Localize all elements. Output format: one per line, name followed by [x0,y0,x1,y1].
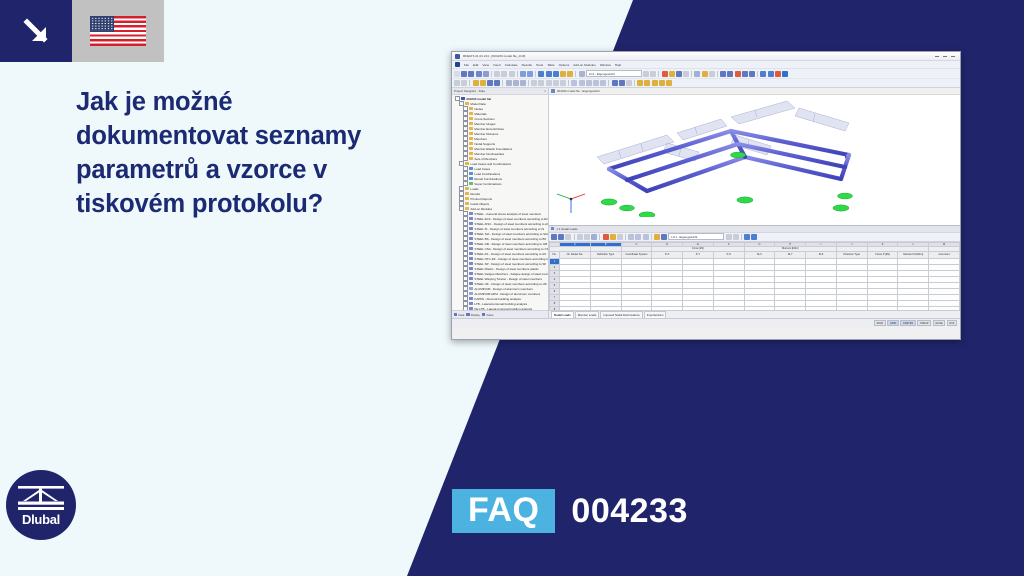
toolbar-pan-icon[interactable] [546,71,552,77]
toolbar2-view-top-icon[interactable] [538,80,544,86]
toolbar-separator [625,234,626,240]
toolbar2-visibility-icon[interactable] [579,80,585,86]
toolbar-separator [691,71,692,77]
menu-item-addon-modules[interactable]: Add-on Modules [573,63,596,67]
page-title: Jak je možné dokumentovat seznamy parame… [76,86,406,222]
tree-item-label: Materials [474,112,486,116]
tree-item-label: Loads [470,187,478,191]
maximize-icon[interactable] [943,56,947,57]
toolbar-loads-icon[interactable] [662,71,668,77]
toolbar-next-case-icon[interactable] [650,71,656,77]
toolbar2-settings-icon[interactable] [626,80,632,86]
menu-item-results[interactable]: Results [522,63,532,67]
toolbar-member-icon[interactable] [742,71,748,77]
table-find-icon[interactable] [591,234,597,240]
column-header[interactable]: M-X [744,251,775,259]
menu-item-file[interactable]: File [464,63,469,67]
status-chip[interactable]: GRID [887,320,898,326]
module-icon [469,242,473,246]
dlubal-logo: Dlubal [6,470,76,540]
hinge-icon [469,122,473,126]
toolbar2-view-fit-icon[interactable] [560,80,566,86]
toolbar-zoom-icon[interactable] [538,71,544,77]
menu-bar[interactable]: File Edit View Insert Calculate Results … [452,61,960,69]
tree-item-label: STEEL Warping Torsion - Design of steel … [474,277,542,281]
tree-item-label: Member Eccentricities [474,127,504,131]
table-panel: 1.1 Nodal Loads [549,225,960,318]
toolbar2-node-icon[interactable] [473,80,479,86]
window-body: Project Navigator - Data × -004233 model… [452,88,960,318]
tree-item-label: STEEL - General stress analysis of steel… [474,212,541,216]
menu-item-tools[interactable]: Tools [536,63,543,67]
toolbar-separator [574,234,575,240]
menu-item-options[interactable]: Options [559,63,570,67]
menu-item-view[interactable]: View [482,63,489,67]
node-icon [469,107,473,111]
toolbar2-deform-icon[interactable] [637,80,643,86]
navigator-tab-views[interactable]: Views [482,313,494,317]
tree-item-label: STEEL AS - Design of steel members accor… [474,252,546,256]
logo-wordmark: Dlubal [6,512,76,527]
module-icon [469,267,473,271]
tree-item-label: Load Combinations [474,172,500,176]
structural-model-3d [549,95,960,217]
tree-item-label: STEEL CSA - Design of steel members acco… [474,247,548,251]
toolbar2-isolate-icon[interactable] [600,80,606,86]
module-icon [469,217,473,221]
app-icon [455,54,460,59]
project-navigator: Project Navigator - Data × -004233 model… [452,88,549,318]
module-icon [469,272,473,276]
rfem-application-window: RFEM 5.21.01 x64 - [004233 model file_1C… [451,51,961,340]
table-new-row-icon[interactable] [551,234,557,240]
module-icon [469,227,473,231]
navigator-tab-display[interactable]: Display [466,313,480,317]
navigator-close-icon[interactable]: × [544,89,546,93]
toolbar2-line-icon[interactable] [480,80,486,86]
folder-icon [465,102,469,106]
table-sort-icon[interactable] [610,234,616,240]
toolbar-section-icon[interactable] [720,71,726,77]
folder-icon [465,207,469,211]
tree-item-label: Load Cases and Combinations [470,162,511,166]
toolbar-preview-icon[interactable] [483,71,489,77]
table-export-icon[interactable] [628,234,634,240]
status-chip[interactable]: GLINE [933,320,946,326]
module-icon [469,247,473,251]
set-icon [469,157,473,161]
resultcomb-icon [469,177,473,181]
table-info-icon[interactable] [751,234,757,240]
tree-item-label: Nodes [474,107,483,111]
table-tab[interactable]: Member Loads [575,311,600,317]
axis-indicator [557,194,585,213]
folder-icon [465,197,469,201]
window-title: RFEM 5.21.01 x64 - [004233 model file_1C… [463,54,525,58]
toolbar-undo-icon[interactable] [520,71,526,77]
minimize-icon[interactable] [935,56,939,57]
table-import-icon[interactable] [635,234,641,240]
column-header[interactable]: Coordinate System [621,251,652,259]
toolbar2-dimension-icon[interactable] [612,80,618,86]
table-filter-icon[interactable] [603,234,609,240]
views-tab-icon [482,313,485,316]
toolbar-separator [741,234,742,240]
tree-item-label: Member Elastic Foundations [474,147,512,151]
tree-item-label: Nodal Supports [474,142,495,146]
nodal-loads-table: ABCDEFGHIJKLM Force [kN]Moment [kNm] No.… [549,242,960,311]
navigator-tab-data-label: Data [458,313,464,317]
module-icon [469,222,473,226]
tree-item-label: STEEL Fatigue Members - Fatigue design o… [474,272,548,276]
module-icon [469,257,473,261]
toolbar-calculate-icon[interactable] [579,71,585,77]
toolbar-separator [599,234,600,240]
toolbar-wireframe-icon[interactable] [567,71,573,77]
module-icon [469,252,473,256]
toolbar-separator [757,71,758,77]
tree-item-label: ALUMINUM - Design of aluminum members [474,287,533,291]
toolbar-paste-icon[interactable] [509,71,515,77]
faq-block: FAQ 004233 [452,489,688,533]
toolbar2-member2-icon[interactable] [487,80,493,86]
tree-item-label: Model Data [470,102,485,106]
toolbar2-layer-icon[interactable] [571,80,577,86]
table-prev-icon[interactable] [726,234,732,240]
menu-item-insert[interactable]: Insert [493,63,501,67]
table-tab[interactable]: Nodal Loads [551,311,574,317]
division-icon [469,132,473,136]
tree-item-label: Add-on Modules [470,207,492,211]
module-icon [469,232,473,236]
module-icon [469,237,473,241]
toolbar2-load2-icon[interactable] [520,80,526,86]
table-copy-icon[interactable] [565,234,571,240]
nonlinearity-icon [469,152,473,156]
display-tab-icon [466,313,469,316]
top-badges [0,0,164,62]
toolbar-open-icon[interactable] [461,71,467,77]
toolbar-supports-icon[interactable] [669,71,675,77]
tree-item-label: STEEL SP - Design of steel members accor… [474,262,546,266]
column-header[interactable]: On Nodes No. [560,251,591,259]
module-icon [469,212,473,216]
folder-icon [465,202,469,206]
secondary-toolbar[interactable] [452,79,960,88]
toolbar-prev-case-icon[interactable] [643,71,649,77]
toolbar-copy-icon[interactable] [501,71,507,77]
tree-item-label: LTB - Lateral-torsional buckling analysi… [474,302,527,306]
toolbar-info-icon[interactable] [782,71,788,77]
table-tab[interactable]: Imperfections [644,311,667,317]
section-icon [469,117,473,121]
menu-item-window[interactable]: Window [600,63,611,67]
toolbar-separator [717,71,718,77]
menu-item-calculate[interactable]: Calculate [505,63,518,67]
toolbar-cut-icon[interactable] [494,71,500,77]
document-tab[interactable]: 004233 model file - Eigengewicht [549,88,960,95]
toolbar-separator [517,71,518,77]
tree-item-label: Member Nonlinearities [474,152,504,156]
tree-item-label: Load Cases [474,167,490,171]
tree-item-label: Result Combinations [474,177,502,181]
toolbar2-view-iso-icon[interactable] [553,80,559,86]
close-icon[interactable] [951,56,955,57]
toolbar-save-icon[interactable] [468,71,474,77]
table-help-icon[interactable] [744,234,750,240]
navigator-tabs[interactable]: Data Display Views [452,310,548,318]
model-viewport[interactable] [549,95,960,225]
menu-item-edit[interactable]: Edit [473,63,478,67]
navigator-tree[interactable]: -004233 model file-Model Data-Nodes-Mate… [452,95,548,310]
module-icon [469,292,473,296]
toolbar-rotate-icon[interactable] [553,71,559,77]
table-tab[interactable]: Imposed Nodal Deformations [600,311,642,317]
folder-icon [465,187,469,191]
toolbar-table-icon[interactable] [683,71,689,77]
tree-item-label: STEEL EC3 - Design of steel members acco… [474,217,548,221]
column-header[interactable]: Force P [kN] [867,251,898,259]
toolbar2-view-side-icon[interactable] [546,80,552,86]
module-icon [469,302,473,306]
tree-item-label: Results [470,192,480,196]
toolbar-separator [575,71,576,77]
tree-item-label: Member Divisions [474,132,498,136]
tree-item-label: ALUMINUM ADM - Design of aluminum member… [474,292,540,296]
faq-tag: FAQ [452,489,555,533]
tree-item-label: Member Hinges [474,122,495,126]
combination-icon [469,172,473,176]
table-next-icon[interactable] [733,234,739,240]
tree-item-label: STEEL IS - Design of steel members accor… [474,227,544,231]
tree-item-label: STEEL GB - Design of steel members accor… [474,242,547,246]
toolbar-separator [568,80,569,86]
toolbar2-moment-icon[interactable] [644,80,650,86]
toolbar-redo-icon[interactable] [527,71,533,77]
member-icon [469,137,473,141]
navigator-tab-display-label: Display [471,313,480,317]
column-header[interactable]: M-Y [775,251,806,259]
toolbar2-view-front-icon[interactable] [531,80,537,86]
tree-item-label: Super Combinations [474,182,501,186]
menu-item-help[interactable]: Help [615,63,621,67]
flag-canton [90,16,114,32]
toolbar-separator [528,80,529,86]
module-icon [469,287,473,291]
module-icon [469,277,473,281]
toolbar-print-icon[interactable] [476,71,482,77]
toolbar-render-icon[interactable] [560,71,566,77]
tree-item-label: Cross-Sections [474,117,494,121]
toolbar2-select-icon[interactable] [454,80,460,86]
toolbar2-lasso-icon[interactable] [461,80,467,86]
table-paste-icon[interactable] [584,234,590,240]
toolbar-measure-icon[interactable] [709,71,715,77]
toolbar-snap-icon[interactable] [702,71,708,77]
main-toolbar[interactable]: LC1 - Eigengewicht [452,69,960,79]
data-tab-icon [454,313,457,316]
toolbar2-axial-icon[interactable] [659,80,665,86]
table-print-icon[interactable] [643,234,649,240]
toolbar-results-icon[interactable] [676,71,682,77]
menu-app-badge [455,62,460,67]
navigator-tab-data[interactable]: Data [454,313,464,317]
foundation-icon [469,147,473,151]
folder-icon [465,162,469,166]
document-icon [551,89,555,93]
column-names-row: No.On Nodes No.Definition TypeCoordinate… [550,251,960,259]
toolbar2-filter-icon[interactable] [586,80,592,86]
work-area: 004233 model file - Eigengewicht [549,88,960,318]
toolbar-separator [502,80,503,86]
column-header[interactable]: M-Z [806,251,837,259]
toolbar-separator [634,80,635,86]
project-icon [461,97,465,101]
status-chip[interactable]: OSNAP [917,320,931,326]
support-icon [469,142,473,146]
tree-item-label: STEEL NTC-DF - Design of steel members a… [474,257,548,261]
toolbar-printout-icon[interactable] [760,71,766,77]
toolbar-separator [608,80,609,86]
menu-item-table[interactable]: Table [547,63,554,67]
table-cut-icon[interactable] [577,234,583,240]
toolbar2-stress-icon[interactable] [666,80,672,86]
toolbar2-group-icon[interactable] [593,80,599,86]
column-header[interactable]: Direction Type [836,251,867,259]
status-chips[interactable]: SNAPGRIDCARTESOSNAPGLINEDXF [874,320,957,326]
status-chip[interactable]: DXF [947,320,957,326]
flag-stars [91,17,113,31]
toolbar-separator [651,234,652,240]
toolbar-report-icon[interactable] [768,71,774,77]
toolbar2-annotation-icon[interactable] [619,80,625,86]
tree-item-label: 004233 model file [466,97,491,101]
module-icon [469,282,473,286]
column-header[interactable]: Moment M [kNm] [898,251,929,259]
table-tabstrip[interactable]: Nodal LoadsMember LoadsImposed Nodal Def… [549,310,960,318]
tree-item-label: STEEL AISC - Design of steel members acc… [474,222,548,226]
status-bar: SNAPGRIDCARTESOSNAPGLINEDXF [452,318,960,327]
tree-item-label: STEEL BS - Design of steel members accor… [474,237,546,241]
load-case-combo[interactable]: LC1 - Eigengewicht [586,70,642,78]
toolbar-separator [535,71,536,77]
tree-item-label: KAPPA - Flexural buckling analysis [474,297,520,301]
eccentricity-icon [469,127,473,131]
navigator-tab-views-label: Views [486,313,493,317]
table-delete-row-icon[interactable] [558,234,564,240]
us-flag-icon [72,0,164,62]
tree-item-label: STEEL SIA - Design of steel members acco… [474,232,548,236]
tree-item-label: STEEL Plastic - Design of steel members … [474,267,538,271]
tree-item-label: Sets of Members [474,157,497,161]
window-titlebar: RFEM 5.21.01 x64 - [004233 model file_1C… [452,52,960,61]
table-loadcase-icon[interactable] [654,234,660,240]
toolbar-delete-icon[interactable] [735,71,741,77]
loadcase-icon [469,167,473,171]
toolbar-new-icon[interactable] [454,71,460,77]
toolbar-help-icon[interactable] [775,71,781,77]
column-header[interactable]: P-Y [683,251,714,259]
folder-icon [465,192,469,196]
table-units-icon[interactable] [661,234,667,240]
tree-item-label: STEEL HK - Design of steel members accor… [474,282,546,286]
column-header[interactable]: P-X [652,251,683,259]
toolbar2-hinge2-icon[interactable] [513,80,519,86]
document-tab-label: 004233 model file - Eigengewicht [557,89,600,93]
tree-item-label: Members [474,137,487,141]
table-title-label: 1.1 Nodal Loads [556,227,577,231]
toolbar-surface-icon[interactable] [749,71,755,77]
toolbar-grid-icon[interactable] [694,71,700,77]
flag-graphic [90,16,146,46]
status-chip[interactable]: CARTES [900,320,915,326]
toolbar2-surface2-icon[interactable] [494,80,500,86]
table-toolbar[interactable]: LC1 - Eigengewicht [549,233,960,242]
dlubal-frame-icon [18,486,64,512]
status-chip[interactable]: SNAP [874,320,886,326]
table-grid[interactable]: ABCDEFGHIJKLM Force [kN]Moment [kNm] No.… [549,242,960,311]
supercomb-icon [469,182,473,186]
module-icon [469,262,473,266]
toolbar-separator [469,80,470,86]
table-icon [551,227,554,230]
tree-item-label: Guide Objects [470,202,489,206]
toolbar-separator [658,71,659,77]
toolbar2-support2-icon[interactable] [506,80,512,86]
table-settings-icon[interactable] [617,234,623,240]
tree-item-label: Printout Reports [470,197,492,201]
toolbar2-shear-icon[interactable] [652,80,658,86]
column-header[interactable]: No. [550,251,560,259]
table-load-case-combo[interactable]: LC1 - Eigengewicht [668,233,724,241]
window-controls[interactable] [935,56,957,57]
arrow-down-right-icon [0,0,72,62]
slide-canvas: Jak je možné dokumentovat seznamy parame… [0,0,1024,576]
faq-number: 004233 [571,492,687,531]
column-header[interactable]: P-Z [713,251,744,259]
column-header[interactable]: Comment [929,251,960,259]
toolbar-separator [491,71,492,77]
toolbar-material-icon[interactable] [727,71,733,77]
table-body: 1234567891011121314 [550,259,960,310]
column-header[interactable]: Definition Type [590,251,621,259]
material-icon [469,112,473,116]
navigator-title: Project Navigator - Data [454,89,485,93]
module-icon [469,297,473,301]
navigator-header: Project Navigator - Data × [452,88,548,95]
